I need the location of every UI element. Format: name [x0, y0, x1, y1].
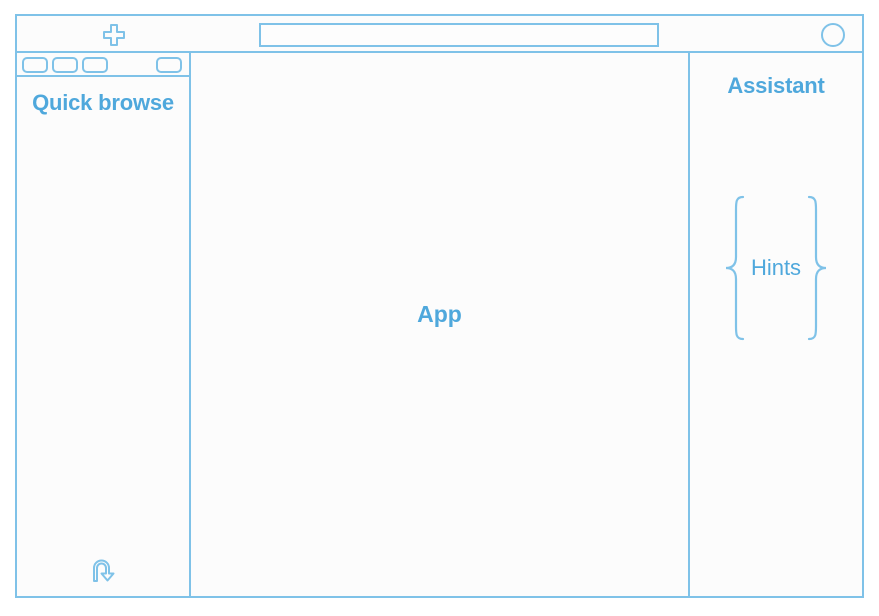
assistant-title: Assistant — [690, 73, 862, 99]
assistant-panel: Assistant Hints — [688, 53, 862, 596]
close-brace-icon — [805, 194, 829, 342]
sidebar-panel: Quick browse — [17, 53, 191, 596]
u-turn-arrow-icon[interactable] — [86, 553, 120, 587]
address-search-input[interactable] — [259, 23, 659, 47]
browser-window-frame: Quick browse App Assistant Hints — [15, 14, 864, 598]
app-content-area[interactable]: App — [191, 53, 688, 596]
hints-label: Hints — [751, 255, 801, 281]
sidebar-footer — [17, 550, 189, 590]
app-label: App — [417, 301, 462, 328]
plus-icon — [101, 22, 127, 48]
top-bar — [17, 16, 862, 53]
sidebar-title: Quick browse — [17, 89, 189, 118]
window-body: Quick browse App Assistant Hints — [17, 53, 862, 596]
sidebar-toolbar-button-2[interactable] — [52, 57, 78, 73]
sidebar-toolbar-button-3[interactable] — [82, 57, 108, 73]
sidebar-toolbar — [17, 53, 189, 77]
hints-block: Hints — [700, 193, 852, 343]
sidebar-toolbar-button-1[interactable] — [22, 57, 48, 73]
open-brace-icon — [723, 194, 747, 342]
profile-avatar-icon[interactable] — [821, 23, 845, 47]
sidebar-toolbar-button-4[interactable] — [156, 57, 182, 73]
new-tab-button[interactable] — [99, 21, 129, 49]
